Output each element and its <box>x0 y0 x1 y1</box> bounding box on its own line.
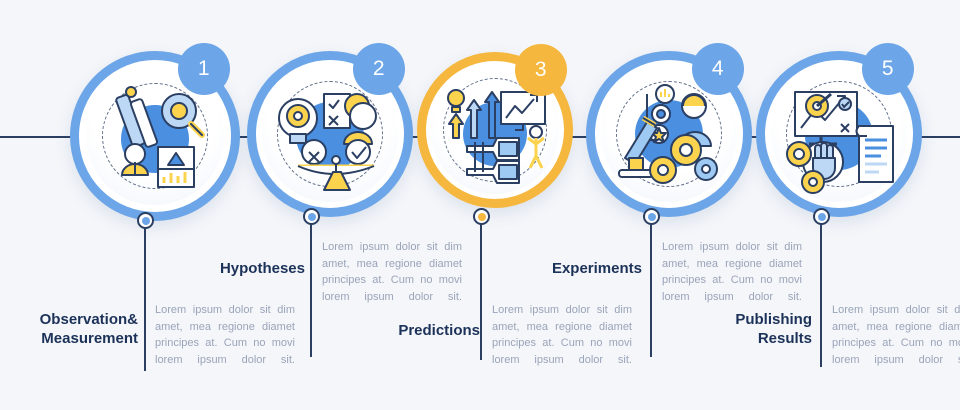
step-dot-1 <box>137 212 154 229</box>
step-badge-2: 2 <box>353 43 405 95</box>
step-stem-5 <box>820 217 822 367</box>
step-stem-2 <box>310 217 312 357</box>
step-stem-3 <box>480 210 482 360</box>
step-number-5: 5 <box>882 57 894 81</box>
step-dot-3 <box>473 208 490 225</box>
step-stem-1 <box>144 221 146 371</box>
step-body-1: Lorem ipsum dolor sit dim amet, mea regi… <box>155 302 295 368</box>
step-number-1: 1 <box>198 57 210 81</box>
step-number-3: 3 <box>535 58 547 82</box>
step-badge-5: 5 <box>862 43 914 95</box>
step-title-4: Experiments <box>492 259 642 278</box>
step-body-4: Lorem ipsum dolor sit dim amet, mea regi… <box>662 239 802 305</box>
step-number-2: 2 <box>373 57 385 81</box>
step-badge-4: 4 <box>692 43 744 95</box>
step-dot-4 <box>643 208 660 225</box>
step-title-1: Observation& Measurement <box>0 310 138 348</box>
step-dot-2 <box>303 208 320 225</box>
step-title-3: Predictions <box>330 321 480 340</box>
infographic-canvas: 1 Observation& Measurement Lorem ipsum d… <box>0 0 960 410</box>
step-body-3: Lorem ipsum dolor sit dim amet, mea regi… <box>492 302 632 368</box>
step-badge-3: 3 <box>515 44 567 96</box>
step-number-4: 4 <box>712 57 724 81</box>
step-dot-5 <box>813 208 830 225</box>
step-title-2: Hypotheses <box>155 259 305 278</box>
step-body-2: Lorem ipsum dolor sit dim amet, mea regi… <box>322 239 462 305</box>
step-stem-4 <box>650 217 652 357</box>
step-body-5: Lorem ipsum dolor sit dim amet, mea regi… <box>832 302 960 368</box>
step-title-5: Publishing Results <box>662 310 812 348</box>
step-badge-1: 1 <box>178 43 230 95</box>
